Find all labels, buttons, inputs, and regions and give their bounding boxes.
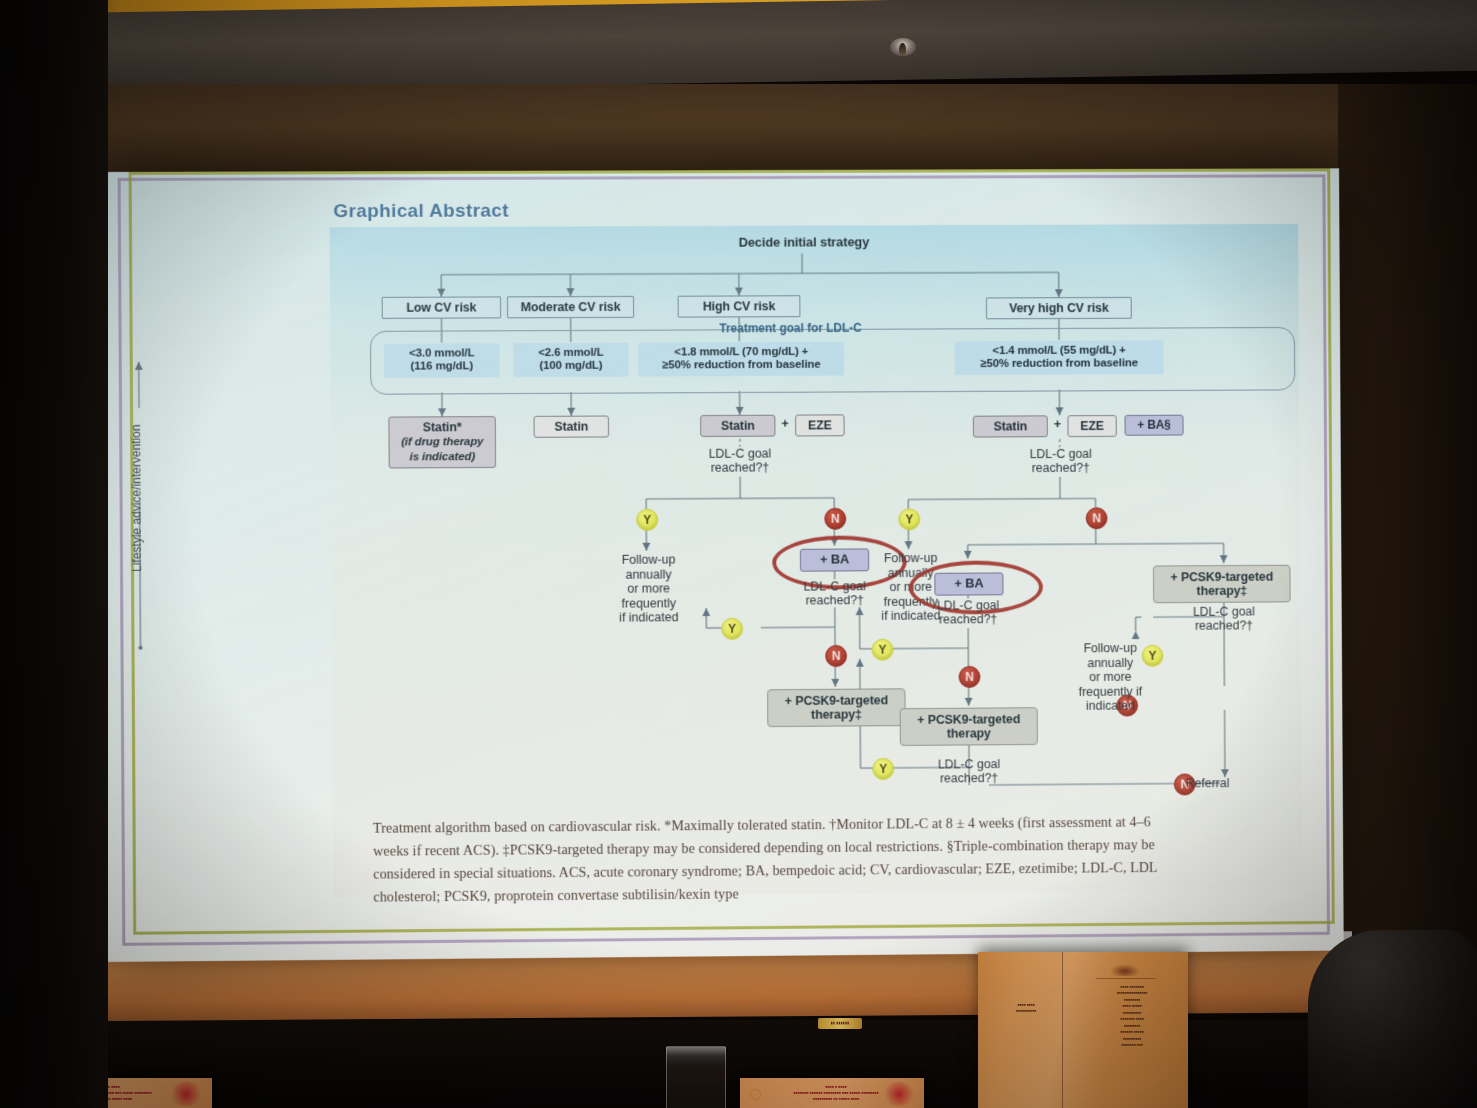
question-vh-2: LDL-C goal reached?†: [909, 598, 1027, 627]
therapy-box-low[interactable]: Statin* (if drug therapy is indicated): [388, 416, 496, 468]
decision-no-vh-1[interactable]: N: [1086, 507, 1108, 529]
risk-box-low[interactable]: Low CV risk: [382, 296, 501, 318]
goal-high-line1: <1.8 mmol/L (70 mg/dL) +: [674, 346, 808, 359]
question-vh-1: LDL-C goal reached?†: [1002, 447, 1120, 476]
page-title: Graphical Abstract: [333, 201, 509, 224]
goal-low-line1: <3.0 mmol/L: [409, 347, 474, 359]
followup-high-l2: annually: [625, 567, 671, 581]
menu-course-list: ■■■■ ■■■■■■■■■■■■■■■■■■■■■■■■■■■■■■■■■■ …: [1076, 984, 1188, 1049]
goal-moderate-line1: <2.6 mmol/L: [538, 347, 603, 359]
decision-yes-vh-2[interactable]: Y: [872, 639, 894, 661]
goal-low-line2: (116 mg/dL): [411, 360, 474, 372]
q-right-line1: LDL-C goal: [1193, 605, 1255, 619]
q-high-2-line1: LDL-C goal: [803, 579, 866, 593]
decision-no-high-1[interactable]: N: [824, 508, 846, 530]
goal-very-high-line1: <1.4 mmol/L (55 mg/dL) +: [992, 345, 1125, 357]
question-high-1: LDL-C goal reached?†: [680, 446, 799, 475]
pcsk9-box-vh[interactable]: + PCSK9-targeted therapy: [900, 707, 1038, 746]
decision-no-high-2[interactable]: N: [825, 645, 847, 667]
goal-high-line2: ≥50% reduction from baseline: [662, 359, 821, 372]
followup-high-l4: frequently: [621, 596, 676, 610]
followup-high: Follow-up annually or more frequently if…: [597, 552, 701, 625]
hotel-logo-icon: [1110, 964, 1140, 976]
followup-right: Follow-up annually or more frequently if…: [1055, 641, 1166, 714]
q-vh-1-line1: LDL-C goal: [1030, 447, 1092, 461]
followup-right-l2: annually: [1087, 655, 1133, 669]
room-floor-dark: [0, 1020, 1477, 1108]
q-high-1-line2: reached?†: [711, 461, 770, 475]
pcsk9-box-right[interactable]: + PCSK9-targeted therapy‡: [1153, 565, 1291, 604]
photo-scene: Graphical Abstract: [0, 0, 1477, 1108]
projection-screen: Graphical Abstract: [102, 168, 1344, 962]
name-card-right-text: ■■■■ ■ ■■■■■■■■■■■ ■■■■■■ ■■■■■■■■ ■■■ ■…: [770, 1084, 902, 1102]
followup-right-l3: or more: [1089, 670, 1131, 684]
therapy-box-high-statin[interactable]: Statin: [700, 415, 775, 437]
decision-yes-high-1[interactable]: Y: [636, 509, 658, 531]
q-right-line2: reached?†: [1195, 619, 1253, 633]
followup-right-l5: indicated: [1086, 699, 1135, 713]
q-vh-2-line1: LDL-C goal: [937, 598, 999, 612]
q-vh-3-line2: reached?†: [940, 771, 998, 785]
therapy-box-vh-statin[interactable]: Statin: [973, 415, 1048, 437]
therapy-box-vh-eze[interactable]: EZE: [1067, 415, 1116, 437]
followup-high-l3: or more: [627, 581, 670, 595]
treatment-goal-header: Treatment goal for LDL-C: [719, 321, 861, 336]
ceiling: [0, 0, 1477, 94]
goal-moderate-line2: (100 mg/dL): [539, 360, 602, 372]
wall-upper: [104, 84, 1477, 178]
q-high-2-line2: reached?†: [806, 593, 864, 607]
decision-yes-high-2[interactable]: Y: [721, 618, 743, 640]
therapy-box-high-eze[interactable]: EZE: [795, 414, 845, 436]
goal-box-moderate: <2.6 mmol/L (100 mg/dL): [513, 343, 628, 377]
q-vh-2-line2: reached?†: [939, 612, 997, 626]
followup-vh-l1: Follow-up: [884, 551, 938, 565]
followup-right-l4: frequently if: [1079, 684, 1143, 698]
risk-box-high[interactable]: High CV risk: [678, 295, 801, 317]
question-right: LDL-C goal reached?†: [1165, 604, 1283, 633]
podium-sign-text: ▮▮ ▮▮▮▮▮▮: [818, 1018, 862, 1029]
therapy-box-vh-ba[interactable]: + BA§: [1124, 415, 1183, 437]
wall-left-dark: [0, 0, 108, 1108]
therapy-box-moderate[interactable]: Statin: [534, 416, 610, 438]
goal-box-very-high: <1.4 mmol/L (55 mg/dL) + ≥50% reduction …: [955, 340, 1164, 374]
followup-high-l1: Follow-up: [622, 553, 676, 567]
plus-symbol-high: +: [781, 416, 789, 431]
root-decide-strategy: Decide initial strategy: [735, 235, 873, 250]
ceiling-spotlight-icon: [890, 38, 916, 56]
therapy-low-line3: is indicated): [410, 451, 476, 463]
drinking-glass: [666, 1046, 726, 1108]
menu-card-fold: [1062, 952, 1063, 1108]
podium-sign: ▮▮ ▮▮▮▮▮▮: [818, 1018, 862, 1029]
name-card-right: ■■■■ ■ ■■■■■■■■■■■ ■■■■■■ ■■■■■■■■ ■■■ ■…: [740, 1078, 924, 1108]
attendee-silhouette: [1308, 930, 1477, 1108]
goal-very-high-line2: ≥50% reduction from baseline: [980, 357, 1138, 370]
goal-box-low: <3.0 mmol/L (116 mg/dL): [384, 343, 500, 377]
question-vh-3: LDL-C goal reached?†: [910, 757, 1028, 786]
pcsk9-box-high[interactable]: + PCSK9-targeted therapy‡: [767, 688, 906, 727]
goal-box-high: <1.8 mmol/L (70 mg/dL) + ≥50% reduction …: [638, 342, 844, 376]
followup-right-l1: Follow-up: [1083, 641, 1136, 655]
plus-symbol-vh: +: [1054, 416, 1062, 431]
wall-right: [1338, 84, 1477, 1024]
ba-box-vh[interactable]: + BA: [934, 572, 1003, 595]
risk-box-very-high[interactable]: Very high CV risk: [986, 297, 1132, 319]
menu-rule-top: [1096, 978, 1156, 979]
decision-no-vh-2[interactable]: N: [959, 666, 981, 688]
logo-ring-icon-2: [750, 1089, 761, 1100]
referral-label: Referral: [1186, 776, 1274, 791]
risk-box-moderate[interactable]: Moderate CV risk: [507, 296, 634, 318]
decision-yes-vh-1[interactable]: Y: [898, 508, 920, 530]
therapy-low-line2: (if drug therapy: [401, 436, 483, 448]
q-high-1-line1: LDL-C goal: [709, 447, 772, 461]
decision-yes-vh-3[interactable]: Y: [872, 758, 894, 780]
footnote-text: Treatment algorithm based on cardiovascu…: [373, 811, 1185, 909]
followup-high-l5: if indicated: [619, 610, 678, 624]
lifestyle-advice-label: Lifestyle advice/intervention: [129, 424, 144, 571]
q-vh-1-line2: reached?†: [1032, 461, 1090, 475]
menu-card-left-panel: ■■■■ ■■■■■■■■■■■■■■: [994, 1002, 1058, 1015]
therapy-low-line1: Statin*: [423, 420, 462, 434]
q-vh-3-line1: LDL-C goal: [938, 757, 1000, 771]
slide: Graphical Abstract: [102, 168, 1344, 962]
